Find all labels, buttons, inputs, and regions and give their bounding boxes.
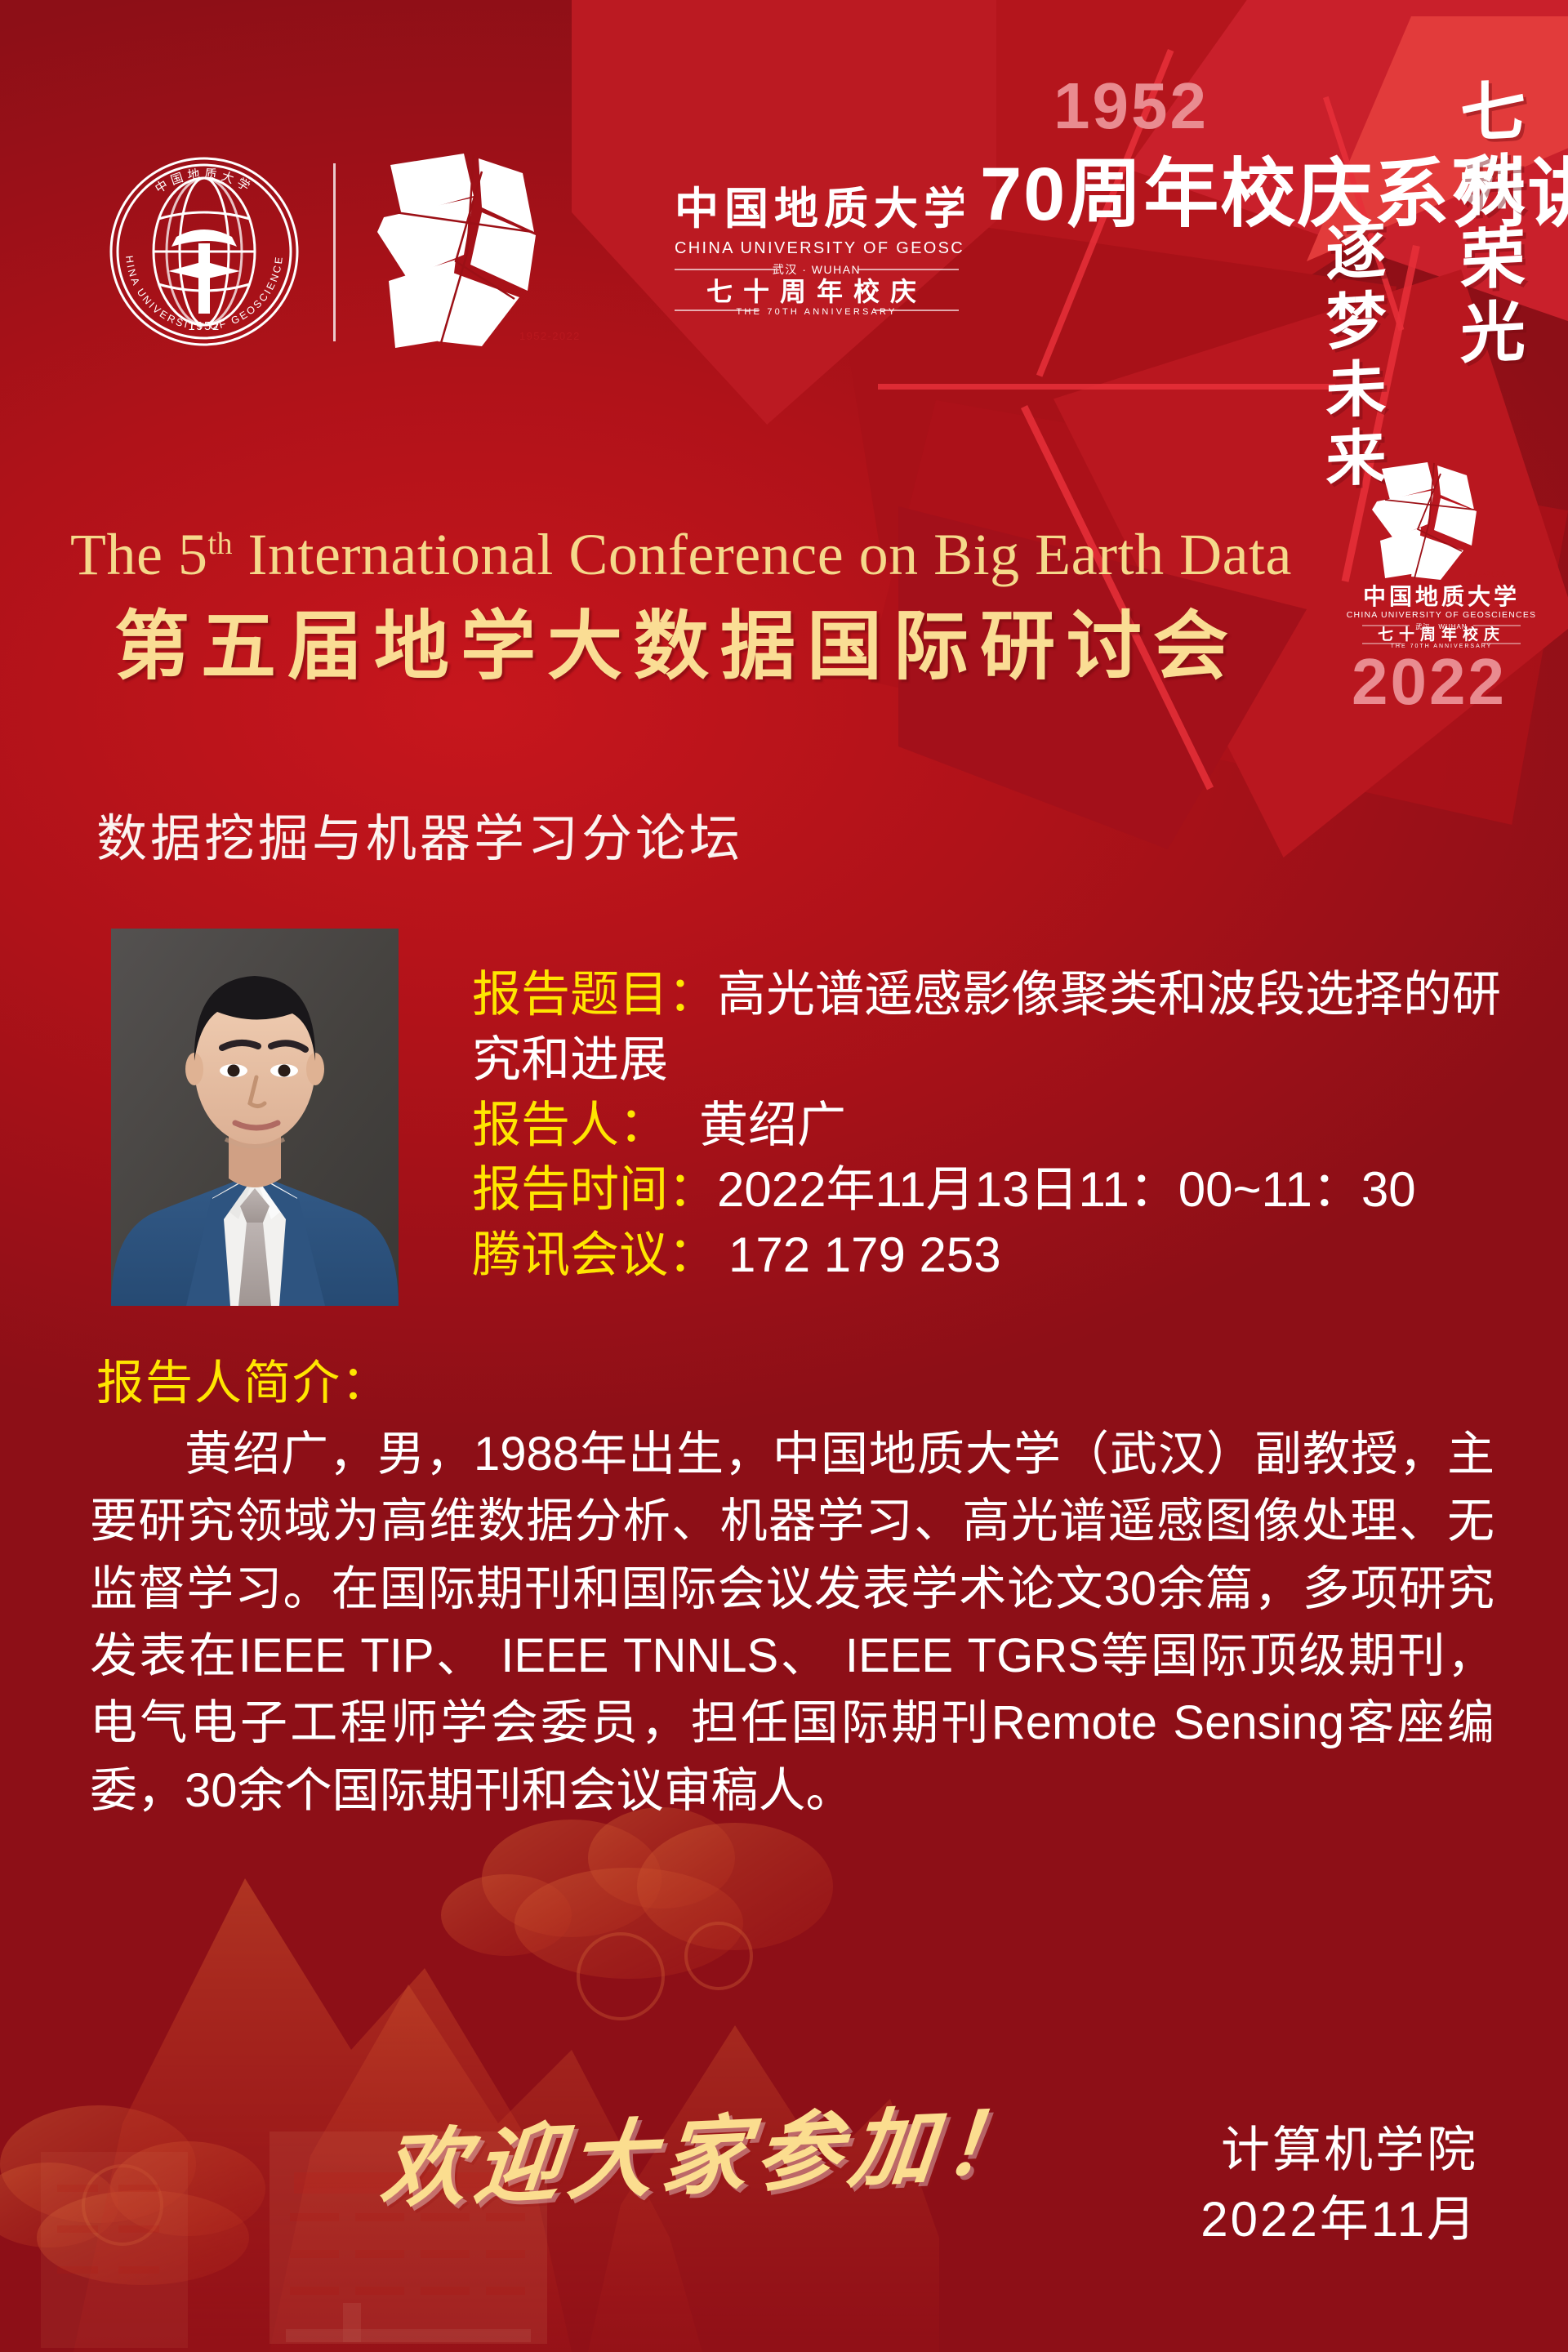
bottom-decoration-illustration (0, 1780, 939, 2352)
svg-text:1952-2022: 1952-2022 (1463, 570, 1506, 578)
talk-time-value: 2022年11月13日11：00~11：30 (717, 1162, 1416, 1217)
svg-text:CHINA UNIVERSITY OF GEOSCIENCE: CHINA UNIVERSITY OF GEOSCIENCES (1347, 610, 1536, 620)
talk-title-row: 报告题目：高光谱遥感影像聚类和波段选择的研究和进展 (472, 962, 1534, 1093)
bio-text: 黄绍广，男，1988年出生，中国地质大学（武汉）副教授，主要研究领域为高维数据分… (90, 1421, 1494, 1824)
speaker-portrait-photo (111, 929, 399, 1306)
speaker-value: 黄绍广 (699, 1098, 846, 1152)
organizer-name: 计算机学院 (1200, 2115, 1478, 2185)
talk-time-row: 报告时间：2022年11月13日11：00~11：30 (472, 1157, 1534, 1223)
meeting-id-label: 腾讯会议： (472, 1227, 717, 1282)
university-wordmark: 中国地质大学 CHINA UNIVERSITY OF GEOSCIENCES 武… (670, 173, 964, 336)
university-seal-logo: 中国地质大学 CHINA UNIVERSITY OF GEOSCIENCES 1… (105, 152, 304, 351)
svg-text:中国地质大学: 中国地质大学 (153, 167, 256, 197)
conference-title-chinese: 第五届地学大数据国际研讨会 (114, 604, 1240, 691)
svg-text:THE 70TH ANNIVERSARY: THE 70TH ANNIVERSARY (1391, 644, 1493, 649)
svg-text:七十周年校庆: 七十周年校庆 (706, 277, 927, 306)
calligraphy-seven-decades-glory: 七秩荣光 (1439, 75, 1534, 374)
year-1952-label: 1952 (1053, 73, 1209, 139)
conf-en-pre: The 5 (70, 522, 207, 587)
bio-heading: 报告人简介： (96, 1344, 390, 1413)
logo-divider (333, 163, 336, 341)
svg-text:THE 70TH ANNIVERSARY: THE 70TH ANNIVERSARY (736, 307, 897, 317)
organizer-date: 2022年11月 (1200, 2185, 1478, 2254)
speaker-row: 报告人：黄绍广 (472, 1093, 1534, 1158)
conference-title-english: The 5th International Conference on Big … (70, 523, 1292, 587)
conf-en-ordinal: th (207, 527, 233, 561)
welcome-message: 欢迎大家参加！ (376, 2073, 1044, 2225)
calligraphy-chase-dream-future: 逐梦未来 (1307, 218, 1394, 497)
year-2022-label: 2022 (1352, 649, 1507, 715)
conf-en-post: International Conference on Big Earth Da… (233, 522, 1292, 587)
speaker-label: 报告人： (472, 1098, 668, 1152)
svg-text:中国地质大学: 中国地质大学 (1363, 583, 1520, 610)
poster-canvas: 中国地质大学 CHINA UNIVERSITY OF GEOSCIENCES 1… (0, 0, 1568, 2352)
anniversary-70-mark: 1952-2022 (359, 147, 661, 355)
anniversary-logo-small: 1952-2022 中国地质大学 CHINA UNIVERSITY OF GEO… (1339, 457, 1543, 649)
meeting-id-value: 172 179 253 (728, 1227, 1001, 1282)
talk-time-label: 报告时间： (472, 1162, 717, 1217)
svg-text:中国地质大学: 中国地质大学 (675, 185, 964, 234)
organizer-signoff: 计算机学院 2022年11月 (1200, 2115, 1478, 2254)
talk-title-label: 报告题目： (472, 967, 717, 1022)
talk-info-block: 报告题目：高光谱遥感影像聚类和波段选择的研究和进展 报告人：黄绍广 报告时间：2… (472, 962, 1534, 1288)
svg-text:1952: 1952 (188, 319, 220, 333)
svg-text:CHINA UNIVERSITY OF GEOSCIENCE: CHINA UNIVERSITY OF GEOSCIENCES (675, 239, 964, 257)
forum-name: 数据挖掘与机器学习分论坛 (96, 797, 743, 871)
svg-text:武汉 · WUHAN: 武汉 · WUHAN (773, 263, 861, 276)
meeting-id-row: 腾讯会议：172 179 253 (472, 1223, 1534, 1288)
svg-text:七十周年校庆: 七十周年校庆 (1378, 625, 1505, 644)
svg-text:1952-2022: 1952-2022 (519, 330, 581, 342)
